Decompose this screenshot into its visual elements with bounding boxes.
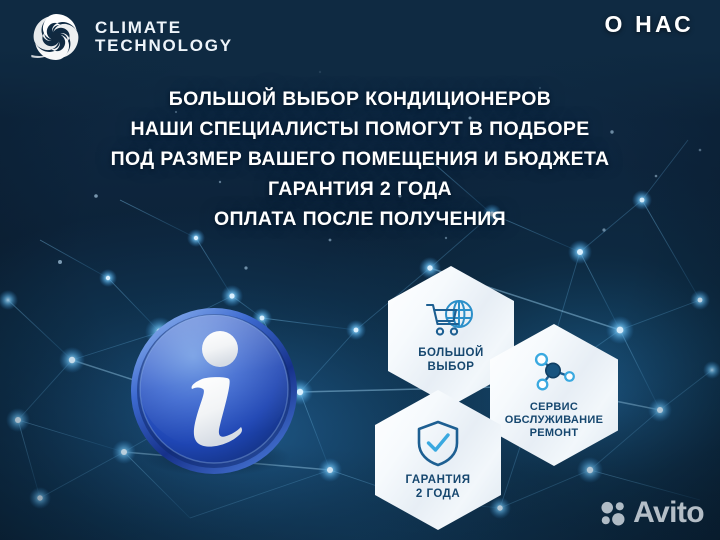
shield-check-icon — [415, 419, 461, 467]
promo-banner: CLIMATE TECHNOLOGY О НАС БОЛЬШОЙ ВЫБОР К… — [0, 0, 720, 540]
headline-block: БОЛЬШОЙ ВЫБОР КОНДИЦИОНЕРОВ НАШИ СПЕЦИАЛ… — [0, 84, 720, 234]
network-node-icon — [530, 350, 578, 394]
feature-service-line2: ОБСЛУЖИВАНИЕ — [505, 414, 604, 427]
feature-choice-line2: ВЫБОР — [418, 361, 484, 375]
cart-globe-icon — [425, 298, 477, 340]
headline-line-1: БОЛЬШОЙ ВЫБОР КОНДИЦИОНЕРОВ — [0, 84, 720, 114]
feature-warranty-line2: 2 ГОДА — [406, 488, 471, 502]
feature-hex-warranty-label: ГАРАНТИЯ 2 ГОДА — [406, 474, 471, 501]
brand-logo[interactable]: CLIMATE TECHNOLOGY — [28, 9, 233, 65]
feature-hex-service-label: СЕРВИС ОБСЛУЖИВАНИЕ РЕМОНТ — [505, 401, 604, 440]
headline-line-3: ПОД РАЗМЕР ВАШЕГО ПОМЕЩЕНИЯ И БЮДЖЕТА — [0, 144, 720, 174]
brand-name-line2: TECHNOLOGY — [95, 37, 233, 55]
headline-line-5: ОПЛАТА ПОСЛЕ ПОЛУЧЕНИЯ — [0, 204, 720, 234]
feature-service-line1: СЕРВИС — [505, 401, 604, 414]
network-plexus-background — [0, 0, 720, 540]
fan-spiral-logo-icon — [28, 9, 84, 65]
brand-name: CLIMATE TECHNOLOGY — [95, 19, 233, 56]
page-title: О НАС — [604, 11, 694, 38]
feature-choice-line1: БОЛЬШОЙ — [418, 347, 484, 361]
headline-line-2: НАШИ СПЕЦИАЛИСТЫ ПОМОГУТ В ПОДБОРЕ — [0, 114, 720, 144]
feature-service-line3: РЕМОНТ — [505, 427, 604, 440]
brand-name-line1: CLIMATE — [95, 19, 233, 37]
avito-watermark: Avito — [600, 498, 704, 528]
headline-line-4: ГАРАНТИЯ 2 ГОДА — [0, 174, 720, 204]
feature-warranty-line1: ГАРАНТИЯ — [406, 474, 471, 488]
avito-wordmark: Avito — [633, 498, 704, 528]
feature-hex-choice-label: БОЛЬШОЙ ВЫБОР — [418, 347, 484, 374]
avito-dots-icon — [600, 500, 627, 527]
header-bar: CLIMATE TECHNOLOGY О НАС — [0, 0, 720, 72]
info-circle-icon — [128, 305, 300, 477]
